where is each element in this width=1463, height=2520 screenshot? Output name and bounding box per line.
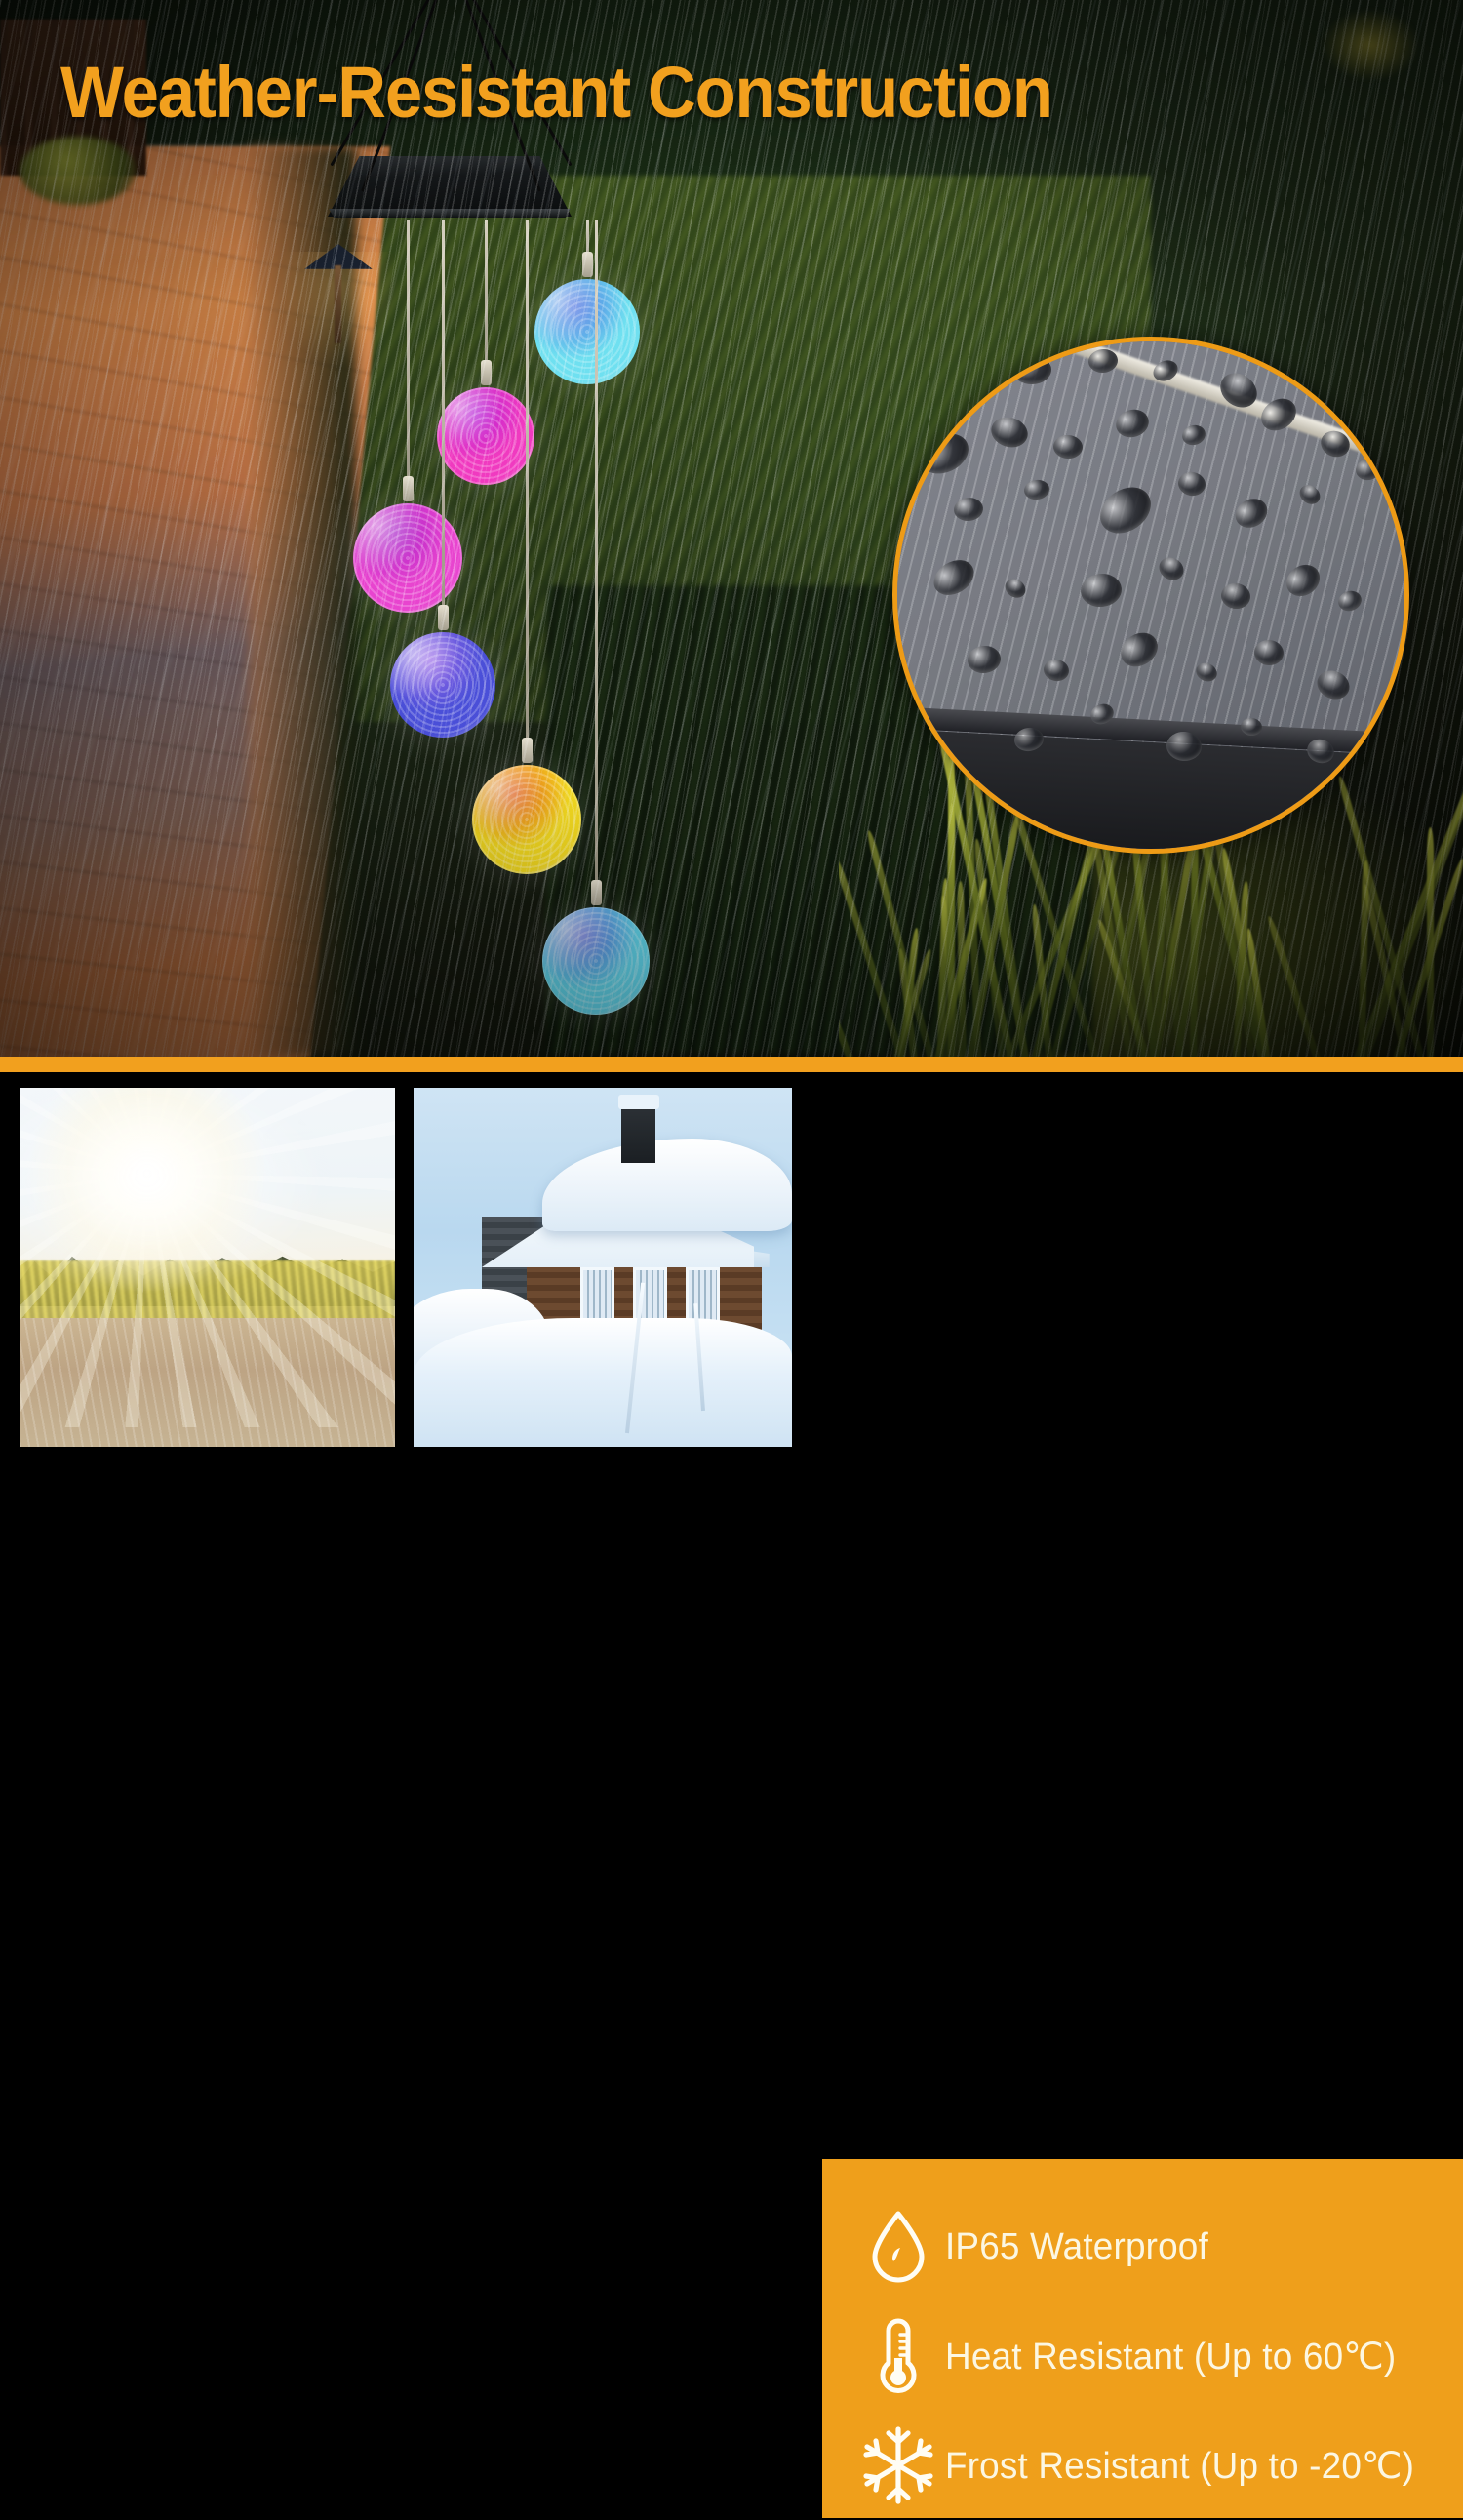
feature-label: IP65 Waterproof bbox=[945, 2226, 1208, 2268]
feature-label: Frost Resistant (Up to -20℃) bbox=[945, 2444, 1414, 2488]
snow-ground bbox=[414, 1318, 792, 1447]
snowflake-icon bbox=[851, 2425, 945, 2505]
wind-chime-product bbox=[293, 0, 702, 1057]
feature-row-heat: Heat Resistant (Up to 60℃) bbox=[822, 2301, 1463, 2411]
chime-wire bbox=[526, 220, 529, 759]
grass-blade bbox=[1266, 915, 1326, 1057]
feature-list-panel: IP65 Waterproof Heat Resistant (Up to 60… bbox=[822, 2159, 1463, 2518]
wire-ferrule bbox=[481, 360, 492, 385]
cyan-ball bbox=[534, 279, 640, 384]
hero-image: Weather-Resistant Construction bbox=[0, 0, 1463, 1057]
pink-ball bbox=[353, 503, 462, 613]
solar-panel-rim bbox=[328, 209, 572, 218]
chime-wire bbox=[595, 220, 598, 901]
feature-label: Heat Resistant (Up to 60℃) bbox=[945, 2335, 1396, 2379]
chime-wire bbox=[407, 220, 410, 498]
cabin-window bbox=[686, 1267, 720, 1325]
snow-cabin-photo bbox=[414, 1088, 792, 1447]
wire-ferrule bbox=[591, 880, 602, 905]
water-drop-icon bbox=[851, 2210, 945, 2284]
yellow-ball bbox=[472, 765, 581, 874]
thermometer-icon bbox=[851, 2315, 945, 2397]
aqua-ball bbox=[542, 907, 650, 1015]
feature-row-frost: Frost Resistant (Up to -20℃) bbox=[822, 2411, 1463, 2520]
waterproof-detail-magnifier bbox=[892, 337, 1409, 854]
wire-ferrule bbox=[403, 476, 414, 501]
wire-ferrule bbox=[522, 738, 533, 763]
sun-haze bbox=[20, 1088, 395, 1447]
shrub bbox=[20, 137, 137, 205]
chimney-snow-cap bbox=[618, 1095, 660, 1109]
orange-divider-bar bbox=[0, 1057, 1463, 1072]
foliage-top-right bbox=[1317, 6, 1424, 84]
page-title: Weather-Resistant Construction bbox=[60, 51, 1052, 134]
feature-row-waterproof: IP65 Waterproof bbox=[822, 2192, 1463, 2301]
bottom-section: IP65 Waterproof Heat Resistant (Up to 60… bbox=[0, 1072, 1463, 1463]
wire-ferrule bbox=[582, 252, 593, 277]
cabin-window bbox=[580, 1267, 614, 1325]
chime-wire bbox=[442, 220, 445, 626]
blue-ball bbox=[390, 632, 495, 738]
chime-wire bbox=[485, 220, 488, 381]
sunny-road-photo bbox=[20, 1088, 395, 1447]
magenta-ball bbox=[437, 387, 534, 485]
wire-ferrule bbox=[438, 605, 449, 630]
